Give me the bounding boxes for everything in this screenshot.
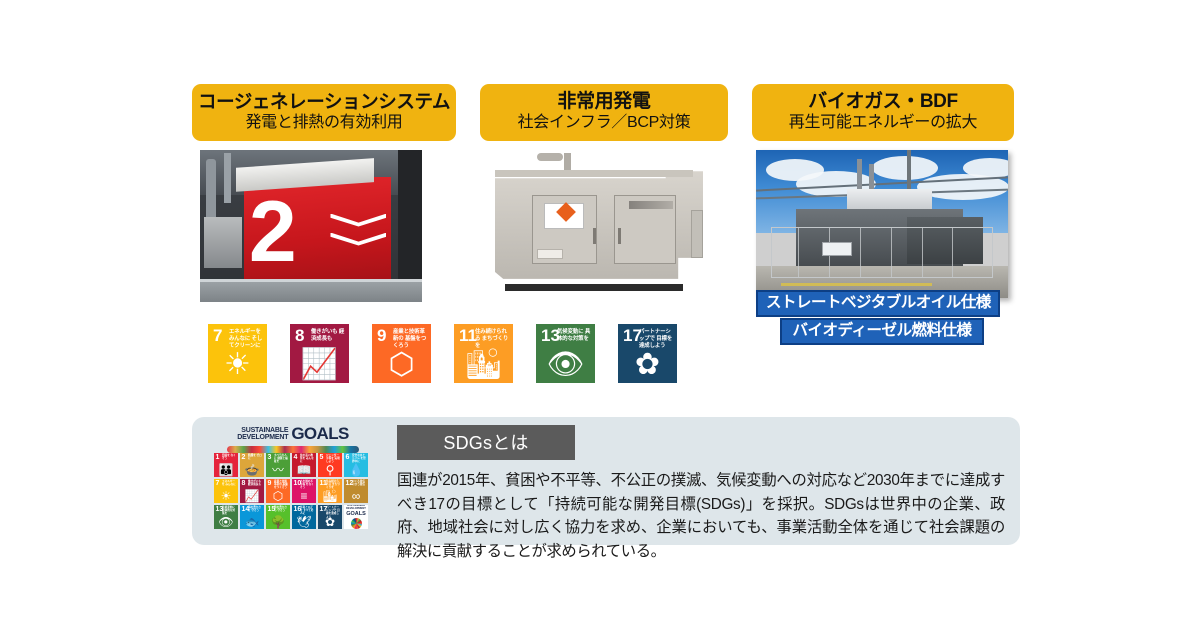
solution-card-biogas-bdf: バイオガス・BDF 再生可能エネルギーの拡大 <box>752 84 1014 298</box>
solution-card-emergency-power: 非常用発電 社会インフラ／BCP対策 <box>480 84 728 300</box>
sdg-glyph: ✿ <box>618 350 677 380</box>
cogeneration-unit-photo: 2 <box>200 150 422 302</box>
mini-glyph: 〰 <box>266 464 290 476</box>
mini-glyph: 🍲 <box>240 464 264 476</box>
emergency-generator-photo <box>480 150 728 300</box>
mini-goal-10: 10 人や国の不平等 をなくそう ≡ <box>292 479 316 503</box>
mini-glyph: 💧 <box>344 464 368 476</box>
mini-goal-8: 8 働きがいも 経済成長も 📈 <box>240 479 264 503</box>
mini-num: 3 <box>268 454 272 461</box>
sdgs-description-text: 国連が2015年、貧困や不平等、不公正の撲滅、気候変動への対応など2030年まで… <box>397 469 1005 564</box>
card-title: バイオガス・BDF <box>758 91 1008 113</box>
mini-num: 1 <box>216 454 220 461</box>
mini-label: エネルギーを みんなに <box>222 480 237 486</box>
card-photo-wrap <box>480 150 728 300</box>
mini-goal-11: 11 住み続けられる まちづくりを 🏙 <box>318 479 342 503</box>
sdg-goal-icon-row: 7 エネルギーをみんなに そしてクリーンに ☀ 8 働きがいも 経済成長も 📈 … <box>208 324 677 383</box>
sdg-7-affordable-clean-energy-icon: 7 エネルギーをみんなに そしてクリーンに ☀ <box>208 324 267 383</box>
mini-glyph: ≡ <box>292 490 316 502</box>
sdg-8-decent-work-icon: 8 働きがいも 経済成長も 📈 <box>290 324 349 383</box>
mini-goal-4: 4 質の高い教育を みんなに 📖 <box>292 453 316 477</box>
mini-glyph: ☀ <box>214 490 238 502</box>
mini-glyph: 🕊 <box>292 516 316 528</box>
sdg-number: 7 <box>213 327 222 344</box>
wheel-goals-word: GOALS <box>346 511 366 517</box>
card-subtitle: 社会インフラ／BCP対策 <box>486 114 722 133</box>
sdg-label: 気候変動に 具体的な対策を <box>557 329 592 343</box>
logo-line-1: SUSTAINABLE <box>237 427 288 434</box>
card-photo-wrap: 2 <box>192 150 456 302</box>
mini-goal-9: 9 産業と技術革新の 基盤をつくろう ⬡ <box>266 479 290 503</box>
mini-glyph: 🐟 <box>240 516 264 528</box>
mini-label: 貧困を なくそう <box>222 454 237 460</box>
mini-goal-15: 15 陸の豊かさも 守ろう 🌳 <box>266 505 290 529</box>
mini-num: 9 <box>268 480 272 487</box>
mini-goal-16: 16 平和と公正を すべての人に 🕊 <box>292 505 316 529</box>
mini-glyph: ⚲ <box>318 464 342 476</box>
card-header-emergency-power: 非常用発電 社会インフラ／BCP対策 <box>480 84 728 141</box>
mini-num: 8 <box>242 480 246 487</box>
mini-label: 飢餓を ゼロに <box>248 454 263 460</box>
mini-glyph: 👁 <box>214 516 238 528</box>
mini-num: 6 <box>346 454 350 461</box>
sdg-17-goal-grid: 1 貧困を なくそう 👪 2 飢餓を ゼロに 🍲 3 すべての人に 健康と福祉を… <box>214 453 368 529</box>
sdg-9-industry-innovation-icon: 9 産業と技術革新の 基盤をつくろう ⬡ <box>372 324 431 383</box>
sdg-label: エネルギーをみんなに そしてクリーンに <box>229 329 264 350</box>
sdg-17-partnerships-icon: 17 パートナーシップで 目標を達成しよう ✿ <box>618 324 677 383</box>
badge-straight-vegetable-oil: ストレートベジタブルオイル仕様 <box>756 290 1000 317</box>
solution-card-cogeneration: コージェネレーションシステム 発電と排熱の有効利用 2 <box>192 84 456 302</box>
sdg-color-bar <box>227 446 359 453</box>
sdg-glyph: 🏙 <box>454 350 513 380</box>
mini-label: 海の豊かさを 守ろう <box>248 506 263 512</box>
card-subtitle: 再生可能エネルギーの拡大 <box>758 114 1008 133</box>
sdg-number: 8 <box>295 327 304 344</box>
mini-glyph: 📈 <box>240 490 264 502</box>
card-title: 非常用発電 <box>486 91 722 113</box>
sdg-13-climate-action-icon: 13 気候変動に 具体的な対策を 👁 <box>536 324 595 383</box>
mini-glyph: 📖 <box>292 464 316 476</box>
mini-glyph: ⬡ <box>266 490 290 502</box>
mini-num: 2 <box>242 454 246 461</box>
mini-label: つくる責任 つかう責任 <box>352 480 367 486</box>
mini-num: 7 <box>216 480 220 487</box>
mini-goal-3: 3 すべての人に 健康と福祉を 〰 <box>266 453 290 477</box>
sdg-glyph: 👁 <box>536 350 595 380</box>
mini-goal-5: 5 ジェンダー平等を 実現しよう ⚲ <box>318 453 342 477</box>
mini-goal-13: 13 気候変動に 具体的な対策を 👁 <box>214 505 238 529</box>
card-header-biogas-bdf: バイオガス・BDF 再生可能エネルギーの拡大 <box>752 84 1014 141</box>
chevron-marking-icon <box>330 214 386 260</box>
sdg-number: 9 <box>377 327 386 344</box>
mini-goal-6: 6 安全な水とトイレ を世界中に 💧 <box>344 453 368 477</box>
card-subtitle: 発電と排熱の有効利用 <box>198 114 450 133</box>
infographic-page: コージェネレーションシステム 発電と排熱の有効利用 2 <box>0 0 1200 630</box>
sdg-11-sustainable-cities-icon: 11 住み続けられる まちづくりを 🏙 <box>454 324 513 383</box>
sdg-label: パートナーシップで 目標を達成しよう <box>639 329 674 350</box>
mini-goal-7: 7 エネルギーを みんなに ☀ <box>214 479 238 503</box>
mini-glyph: ✿ <box>318 516 342 528</box>
sdgs-explanation-panel: SUSTAINABLE DEVELOPMENT GOALS 1 貧困を なくそう… <box>192 417 1020 545</box>
sdg-label: 働きがいも 経済成長も <box>311 329 346 343</box>
mini-num: 4 <box>294 454 298 461</box>
sdg-wheel-logo-tile: SUSTAINABLE DEVELOPMENT GOALS <box>344 505 368 529</box>
biogas-bdf-unit-photo <box>756 150 1008 298</box>
card-title: コージェネレーションシステム <box>198 91 450 113</box>
mini-goal-12: 12 つくる責任 つかう責任 ∞ <box>344 479 368 503</box>
sdg-glyph: 📈 <box>290 350 349 380</box>
card-photo-wrap: ストレートベジタブルオイル仕様 バイオディーゼル燃料仕様 <box>752 150 1014 298</box>
sdg-wordmark-logo: SUSTAINABLE DEVELOPMENT GOALS <box>214 424 372 453</box>
logo-line-2: DEVELOPMENT <box>237 434 288 441</box>
mini-goal-17: 17 パートナーシップで 目標を達成しよう ✿ <box>318 505 342 529</box>
mini-label: 働きがいも 経済成長も <box>248 480 263 486</box>
sdgs-heading: SDGsとは <box>397 425 575 460</box>
solutions-card-row: コージェネレーションシステム 発電と排熱の有効利用 2 <box>192 84 1020 314</box>
mini-glyph: 🌳 <box>266 516 290 528</box>
sdgs-text-column: SDGsとは 国連が2015年、貧困や不平等、不公正の撲滅、気候変動への対応など… <box>397 425 1006 564</box>
logo-goals-word: GOALS <box>291 424 348 444</box>
card-header-cogeneration: コージェネレーションシステム 発電と排熱の有効利用 <box>192 84 456 141</box>
mini-glyph: 🏙 <box>318 490 342 502</box>
sdg-glyph: ⬡ <box>372 350 431 380</box>
sdg-label: 産業と技術革新の 基盤をつくろう <box>393 329 428 350</box>
mini-goal-2: 2 飢餓を ゼロに 🍲 <box>240 453 264 477</box>
sdg-color-wheel-icon <box>351 518 362 529</box>
mini-glyph: 👪 <box>214 464 238 476</box>
mini-glyph: ∞ <box>344 490 368 502</box>
mini-label: 陸の豊かさも 守ろう <box>274 506 289 512</box>
mini-goal-1: 1 貧困を なくそう 👪 <box>214 453 238 477</box>
mini-goal-14: 14 海の豊かさを 守ろう 🐟 <box>240 505 264 529</box>
sdg-label: 住み続けられる まちづくりを <box>475 329 510 350</box>
mini-num: 5 <box>320 454 324 461</box>
badge-biodiesel-fuel: バイオディーゼル燃料仕様 <box>780 318 984 345</box>
sdg-glyph: ☀ <box>208 350 267 380</box>
